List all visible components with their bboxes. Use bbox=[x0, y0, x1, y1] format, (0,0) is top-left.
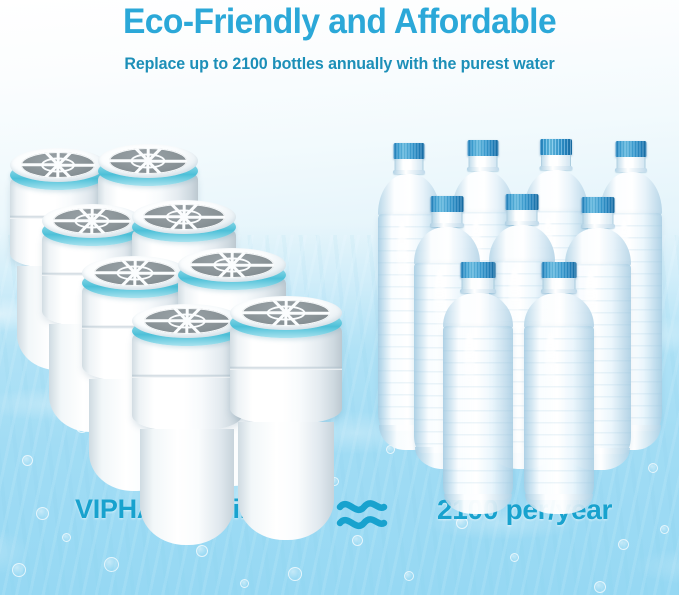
bottle-cap bbox=[468, 140, 499, 156]
bottle-cap bbox=[506, 194, 539, 210]
bottle-base bbox=[525, 494, 592, 514]
filter-body bbox=[230, 326, 342, 424]
bottle-cap bbox=[431, 196, 464, 212]
grille-outer-ring bbox=[190, 252, 274, 278]
filter-body bbox=[132, 334, 242, 431]
filter-mesh-grille bbox=[143, 204, 224, 230]
filter-cartridge bbox=[230, 288, 342, 500]
bottle-highlight bbox=[397, 220, 407, 289]
bottle-highlight bbox=[545, 332, 556, 388]
filter-taper bbox=[140, 429, 235, 545]
bottle-shoulder bbox=[443, 293, 513, 329]
bubble bbox=[240, 579, 249, 588]
bottle-highlight bbox=[464, 332, 475, 388]
bubble bbox=[104, 557, 119, 572]
bottle-cap bbox=[582, 197, 615, 213]
bottle-body bbox=[524, 326, 594, 500]
bottle-cap bbox=[540, 139, 572, 155]
bubble bbox=[648, 463, 658, 473]
bubble bbox=[22, 455, 33, 466]
filter-taper bbox=[238, 422, 334, 540]
filter-mesh-grille bbox=[21, 152, 96, 178]
bottle-shoulder bbox=[414, 227, 480, 266]
grille-outer-ring bbox=[109, 148, 187, 174]
filter-mesh-grille bbox=[94, 260, 177, 286]
bottle-cap bbox=[394, 143, 425, 159]
bubble bbox=[12, 563, 26, 577]
bubble bbox=[510, 553, 519, 562]
bottle-cap bbox=[461, 262, 496, 278]
filter-mesh-grille bbox=[53, 208, 131, 234]
bottle-body bbox=[443, 326, 513, 500]
bottle-shoulder bbox=[489, 225, 555, 264]
bubble bbox=[404, 571, 414, 581]
bottle-base bbox=[444, 494, 511, 514]
bottle-shoulder bbox=[524, 293, 594, 329]
grille-outer-ring bbox=[53, 208, 131, 234]
filter-mesh-grille bbox=[242, 300, 329, 326]
approximately-equal-sign bbox=[334, 490, 390, 538]
grille-outer-ring bbox=[242, 300, 329, 326]
filter-mesh-grille bbox=[190, 252, 274, 278]
bubble bbox=[594, 581, 606, 593]
bubble bbox=[196, 545, 208, 557]
grille-outer-ring bbox=[144, 308, 230, 334]
filter-cartridge bbox=[132, 296, 242, 506]
filter-mesh-grille bbox=[109, 148, 187, 174]
page-title: Eco-Friendly and Affordable bbox=[14, 2, 666, 42]
water-bottle bbox=[524, 262, 594, 518]
water-bottle bbox=[443, 262, 513, 518]
bubble bbox=[618, 539, 629, 550]
bottle-cap bbox=[616, 141, 647, 157]
grille-outer-ring bbox=[94, 260, 177, 286]
grille-outer-ring bbox=[21, 152, 96, 178]
product-infographic: Eco-Friendly and Affordable Replace up t… bbox=[0, 0, 679, 595]
filter-mesh-grille bbox=[144, 308, 230, 334]
grille-outer-ring bbox=[143, 204, 224, 230]
bubble bbox=[288, 567, 302, 581]
page-subtitle: Replace up to 2100 bottles annually with… bbox=[10, 55, 669, 74]
bottle-cap bbox=[542, 262, 577, 278]
